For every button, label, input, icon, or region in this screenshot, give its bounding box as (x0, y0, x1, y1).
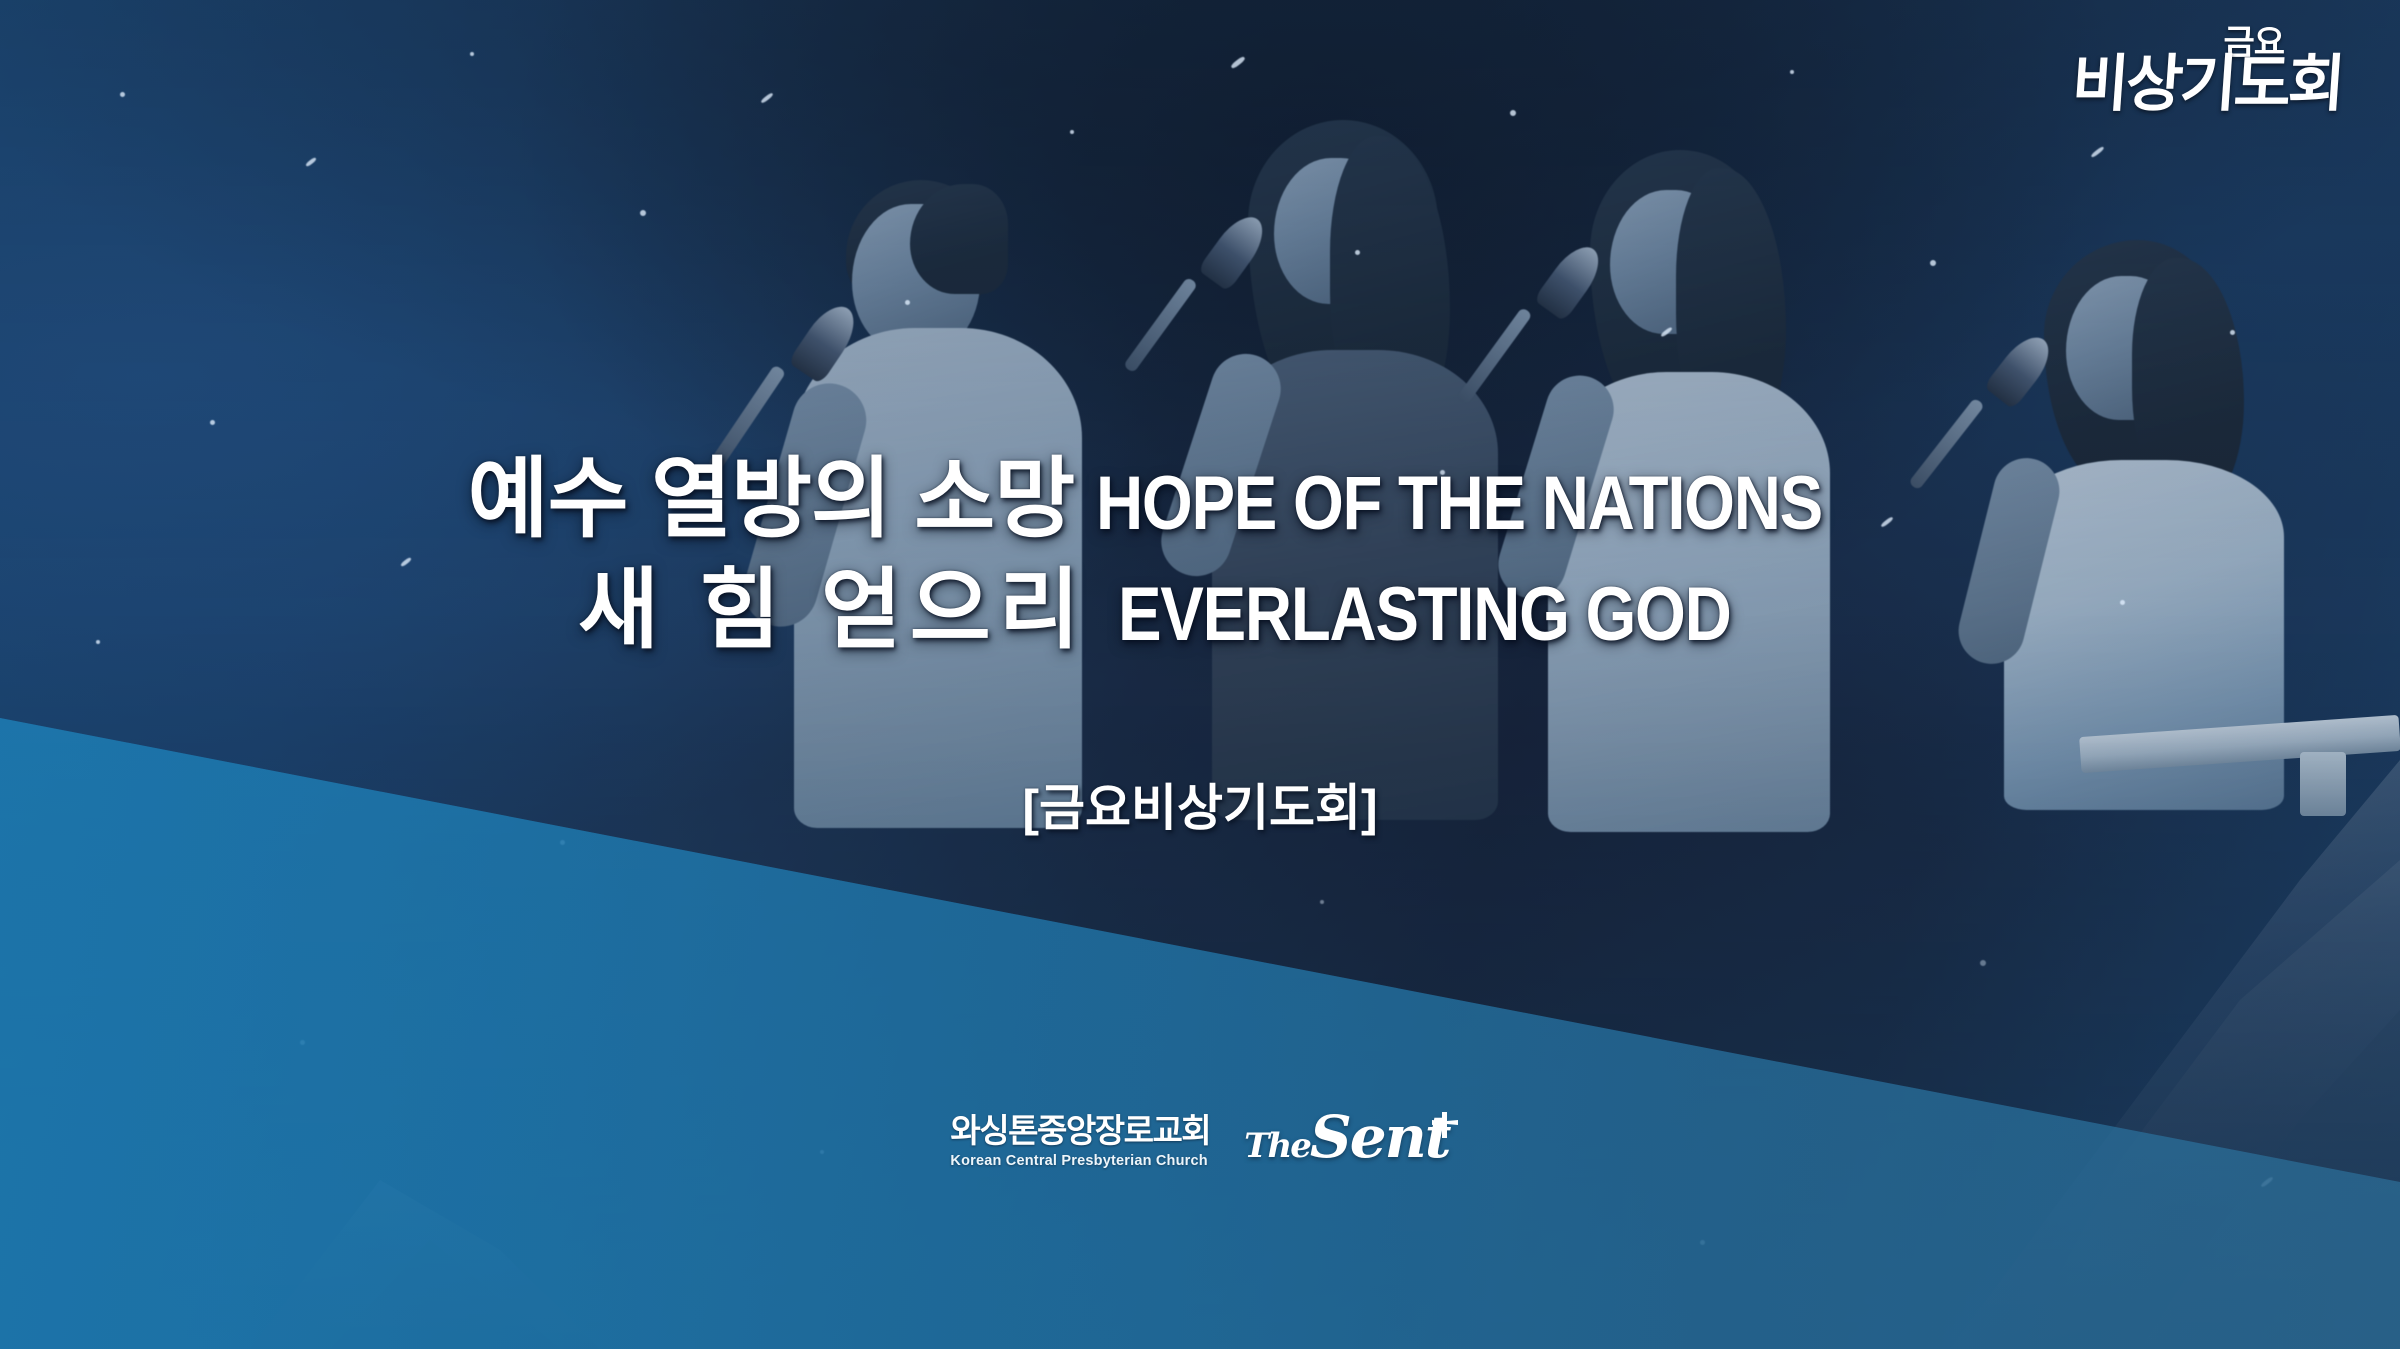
cross-icon (1430, 1110, 1460, 1140)
church-logo: 와싱톤중앙장로교회 Korean Central Presbyterian Ch… (950, 1114, 1210, 1169)
service-subtitle: [금요비상기도회] (0, 768, 2400, 840)
program-logo: 금요 비상기도회 (2072, 26, 2342, 116)
song-title-line-2: 새 힘 얻으리EVERLASTING GOD (0, 563, 2400, 656)
song-title-block: 예수 열방의 소망HOPE OF THE NATIONS 새 힘 얻으리EVER… (0, 452, 2400, 657)
song-title-line-2-english: EVERLASTING GOD (1118, 575, 1731, 656)
program-logo-big-text: 비상기도회 (2070, 54, 2345, 116)
church-name-korean: 와싱톤중앙장로교회 (950, 1114, 1210, 1147)
song-title-line-2-korean: 새 힘 얻으리 (578, 560, 1088, 659)
church-name-english: Korean Central Presbyterian Church (950, 1154, 1210, 1169)
song-title-line-1-english: HOPE OF THE NATIONS (1096, 464, 1822, 545)
song-title-line-1: 예수 열방의 소망HOPE OF THE NATIONS (0, 452, 2400, 545)
the-sent-logo: TheSent (1244, 1108, 1449, 1166)
footer-logos: 와싱톤중앙장로교회 Korean Central Presbyterian Ch… (0, 1112, 2400, 1170)
the-sent-the: The (1244, 1126, 1310, 1166)
song-title-line-1-korean: 예수 열방의 소망 (468, 449, 1075, 548)
worship-slide: 금요 비상기도회 예수 열방의 소망HOPE OF THE NATIONS 새 … (0, 0, 2400, 1349)
